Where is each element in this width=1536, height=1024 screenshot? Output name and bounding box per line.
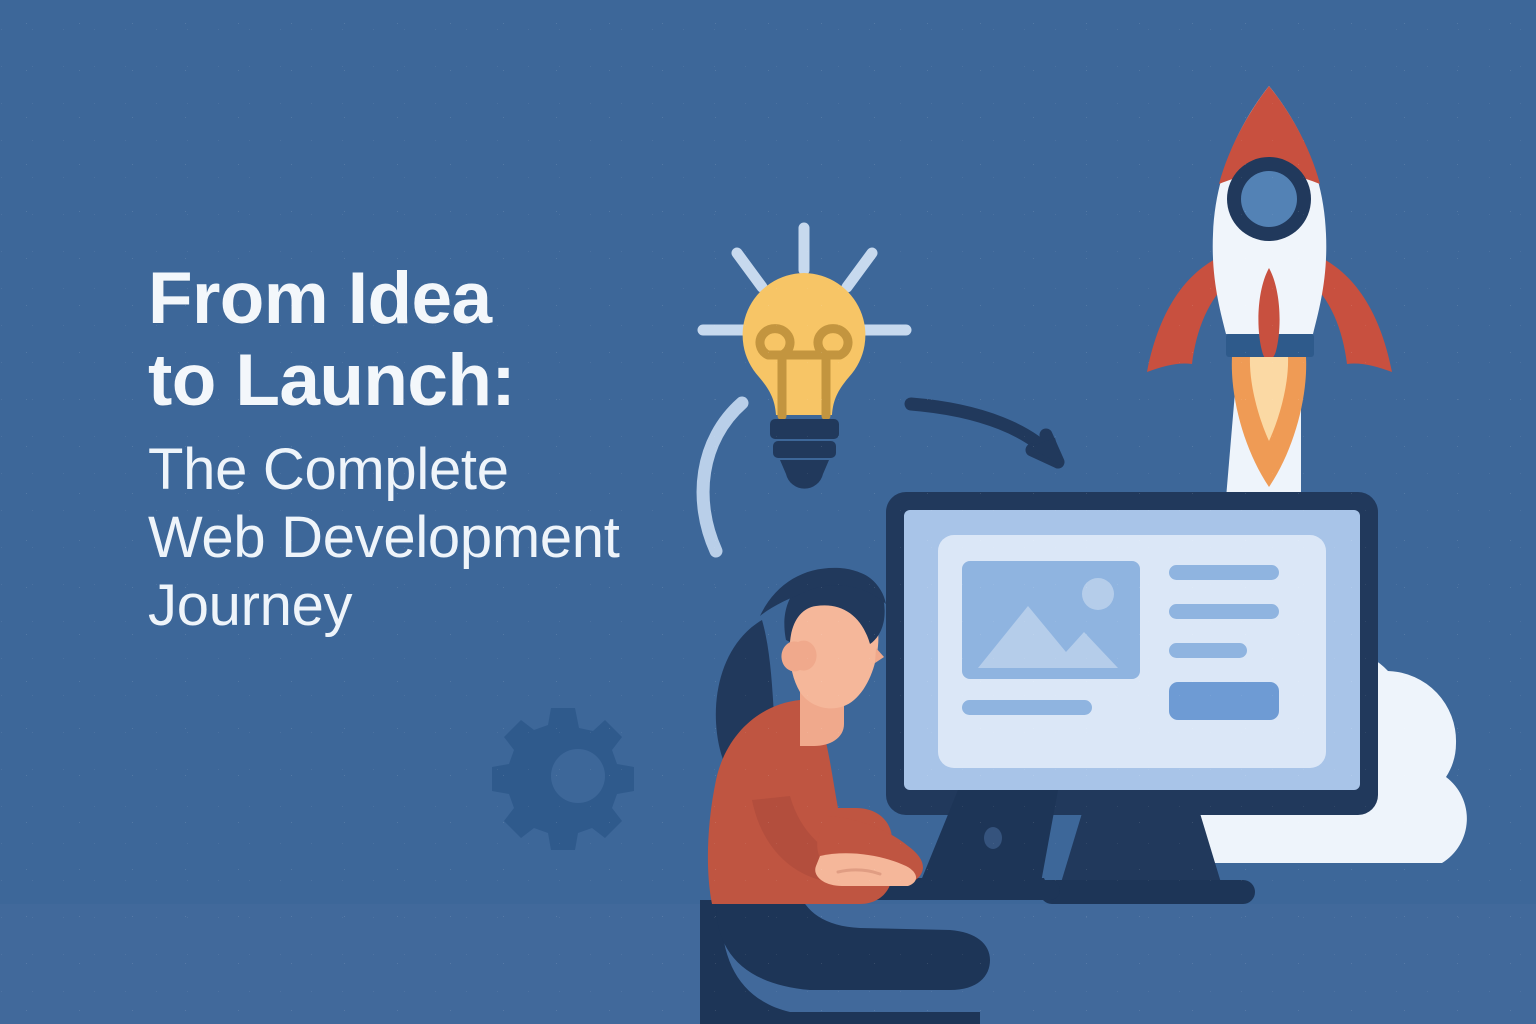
screen-text-line bbox=[1169, 604, 1279, 619]
screen-text-line bbox=[1169, 643, 1247, 658]
laptop-logo bbox=[984, 827, 1002, 849]
gear-icon bbox=[492, 708, 634, 850]
hero-illustration-canvas: From Idea to Launch: The Complete Web De… bbox=[0, 0, 1536, 1024]
screen-text-line bbox=[1169, 565, 1279, 580]
ear bbox=[781, 641, 816, 672]
page-title: From Idea to Launch: bbox=[148, 258, 848, 422]
screen-cta-button bbox=[1169, 682, 1279, 720]
headline-block: From Idea to Launch: The Complete Web De… bbox=[148, 258, 848, 641]
screen-image-placeholder bbox=[962, 561, 1140, 679]
monitor-base bbox=[1040, 880, 1255, 904]
screen-caption-line bbox=[962, 700, 1092, 715]
page-subtitle: The Complete Web Development Journey bbox=[148, 436, 848, 641]
